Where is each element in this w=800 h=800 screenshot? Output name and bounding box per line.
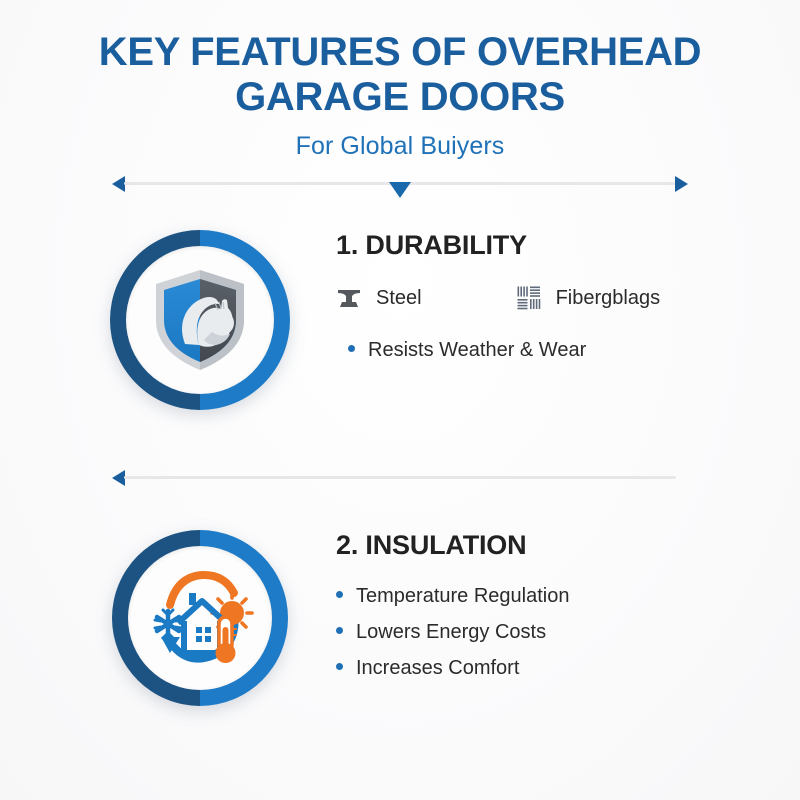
list-item: Increases Comfort bbox=[336, 655, 776, 682]
arrow-left-icon bbox=[112, 176, 125, 192]
material-steel: Steel bbox=[336, 285, 422, 311]
divider-top bbox=[112, 168, 688, 198]
list-item: Resists Weather & Wear bbox=[348, 337, 776, 364]
list-item: Temperature Regulation bbox=[336, 583, 776, 610]
house-climate-icon bbox=[128, 546, 272, 690]
list-item: Lowers Energy Costs bbox=[336, 619, 776, 646]
page-subtitle: For Global Buiyers bbox=[0, 132, 800, 161]
page-title: KEY FEATURES OF OVERHEAD GARAGE DOORS bbox=[0, 30, 800, 120]
divider-mid bbox=[112, 462, 676, 492]
feature-insulation: 2. INSULATION Temperature Regulation Low… bbox=[0, 530, 800, 750]
anvil-icon bbox=[336, 285, 362, 311]
durability-bullets: Resists Weather & Wear bbox=[348, 337, 776, 364]
material-fiberglass: Fibergblags bbox=[516, 285, 661, 311]
bullet-text: Increases Comfort bbox=[356, 655, 519, 682]
insulation-bullets: Temperature Regulation Lowers Energy Cos… bbox=[336, 583, 776, 682]
shield-muscle-icon bbox=[126, 246, 274, 394]
divider-line bbox=[124, 476, 676, 479]
arrow-left-icon bbox=[112, 470, 125, 486]
durability-text-block: 1. DURABILITY Steel bbox=[336, 230, 776, 373]
insulation-text-block: 2. INSULATION Temperature Regulation Low… bbox=[336, 530, 776, 691]
bullet-dot-icon bbox=[336, 663, 343, 670]
bullet-dot-icon bbox=[336, 591, 343, 598]
arrow-right-icon bbox=[675, 176, 688, 192]
feature-heading-durability: 1. DURABILITY bbox=[336, 230, 776, 261]
durability-badge bbox=[110, 230, 290, 410]
arrow-down-icon bbox=[389, 182, 411, 198]
material-label-steel: Steel bbox=[376, 287, 422, 310]
bullet-text: Resists Weather & Wear bbox=[368, 337, 586, 364]
bullet-text: Lowers Energy Costs bbox=[356, 619, 546, 646]
woven-fiberglass-icon bbox=[516, 285, 542, 311]
feature-durability: 1. DURABILITY Steel bbox=[0, 230, 800, 450]
insulation-badge bbox=[112, 530, 288, 706]
bullet-dot-icon bbox=[348, 345, 355, 352]
materials-row: Steel bbox=[336, 285, 776, 311]
header: KEY FEATURES OF OVERHEAD GARAGE DOORS Fo… bbox=[0, 30, 800, 161]
infographic-page: KEY FEATURES OF OVERHEAD GARAGE DOORS Fo… bbox=[0, 0, 800, 800]
feature-heading-insulation: 2. INSULATION bbox=[336, 530, 776, 561]
material-label-fiberglass: Fibergblags bbox=[556, 287, 661, 310]
bullet-text: Temperature Regulation bbox=[356, 583, 569, 610]
bullet-dot-icon bbox=[336, 627, 343, 634]
